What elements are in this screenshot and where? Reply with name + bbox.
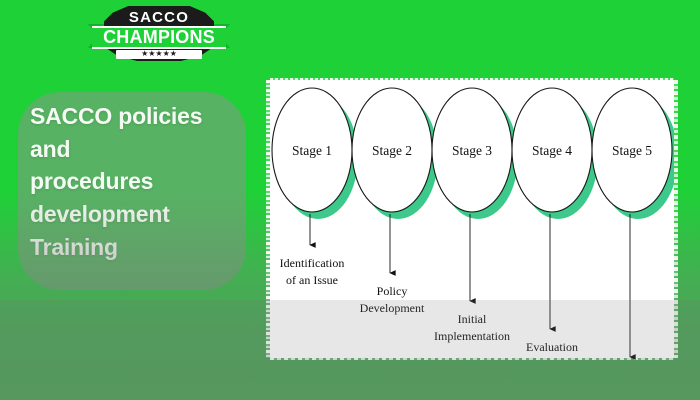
flow-label-1-line-2: of an Issue [286,273,338,287]
flow-label-3-line-1: Initial [458,312,487,326]
flow-label-2: PolicyDevelopment [360,284,425,315]
sacco-champions-logo: SACCO CHAMPIONS ★★★★★ [88,2,230,64]
stage-label-5: Stage 5 [612,143,652,158]
stage-label-2: Stage 2 [372,143,412,158]
stage-label-1: Stage 1 [292,143,332,158]
flow-label-1-line-1: Identification [280,256,345,270]
slide-canvas: SACCO CHAMPIONS ★★★★★ SACCO policies and… [0,0,700,400]
flow-label-layer: Identificationof an IssuePolicyDevelopme… [280,256,578,368]
flow-label-2-line-1: Policy [377,284,408,298]
flow-label-3-line-2: Implementation [434,329,510,343]
stage-flow-diagram: Stage 1Stage 2Stage 3Stage 4Stage 5 Iden… [266,78,678,368]
logo-banner-word: CHAMPIONS [92,26,226,49]
flow-label-4: Evaluationof Impact [526,340,578,368]
flow-label-3: InitialImplementation [434,312,510,343]
flow-label-4-line-1: Evaluation [526,340,578,354]
stage-label-3: Stage 3 [452,143,492,158]
flow-label-2-line-2: Development [360,301,425,315]
stage-label-4: Stage 4 [532,143,572,158]
flow-label-1: Identificationof an Issue [280,256,345,287]
flow-label-4-line-2: of Impact [529,357,576,368]
logo-top-word: SACCO [104,9,214,26]
page-title: SACCO policies and procedures developmen… [30,100,246,263]
logo-stars: ★★★★★ [116,49,202,59]
